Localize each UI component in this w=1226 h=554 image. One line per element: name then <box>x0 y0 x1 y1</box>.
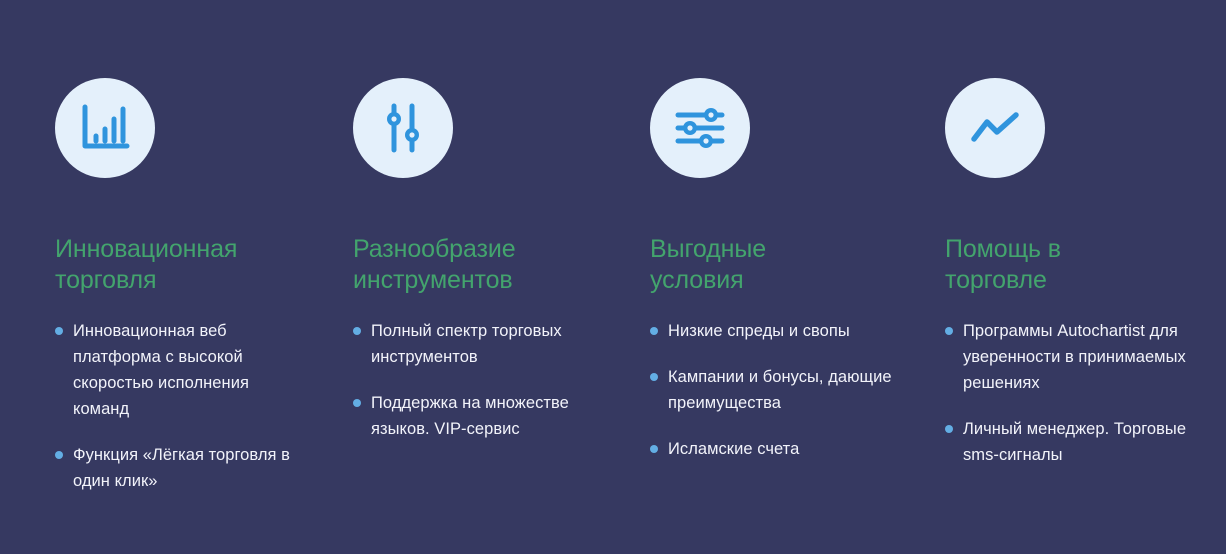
bullet-dot-icon <box>650 373 658 381</box>
list-item: Личный менеджер. Торговые sms-сигналы <box>945 416 1195 468</box>
bullet-dot-icon <box>650 327 658 335</box>
feature-column-favorable-conditions: Выгодные условия Низкие спреды и свопы К… <box>650 78 945 494</box>
list-item: Программы Autochartist для уверенности в… <box>945 318 1195 396</box>
features-grid: Инновационная торговля Инновационная веб… <box>55 78 1205 494</box>
trend-line-icon <box>945 78 1045 178</box>
list-item-text: Программы Autochartist для уверенности в… <box>963 322 1186 392</box>
bullet-dot-icon <box>55 327 63 335</box>
feature-bullet-list: Инновационная веб платформа с высокой ск… <box>55 318 353 494</box>
feature-bullet-list: Программы Autochartist для уверенности в… <box>945 318 1205 468</box>
list-item-text: Инновационная веб платформа с высокой ск… <box>73 322 249 418</box>
bullet-dot-icon <box>353 399 361 407</box>
feature-title: Инновационная торговля <box>55 234 300 296</box>
feature-bullet-list: Низкие спреды и свопы Кампании и бонусы,… <box>650 318 945 462</box>
feature-bullet-list: Полный спектр торговых инструментов Подд… <box>353 318 650 442</box>
feature-column-innovative-trading: Инновационная торговля Инновационная веб… <box>55 78 353 494</box>
feature-title: Помощь в торговле <box>945 234 1145 296</box>
list-item-text: Личный менеджер. Торговые sms-сигналы <box>963 420 1186 464</box>
list-item-text: Низкие спреды и свопы <box>668 322 850 340</box>
list-item: Низкие спреды и свопы <box>650 318 900 344</box>
list-item: Исламские счета <box>650 436 900 462</box>
list-item: Функция «Лёгкая торговля в один клик» <box>55 442 299 494</box>
list-item: Полный спектр торговых инструментов <box>353 318 603 370</box>
list-item-text: Кампании и бонусы, дающие преимущества <box>668 368 892 412</box>
bullet-dot-icon <box>55 451 63 459</box>
feature-title: Выгодные условия <box>650 234 895 296</box>
list-item-text: Исламские счета <box>668 440 799 458</box>
bullet-dot-icon <box>650 445 658 453</box>
feature-column-trading-support: Помощь в торговле Программы Autochartist… <box>945 78 1205 494</box>
list-item-text: Поддержка на множестве языков. VIP-серви… <box>371 394 569 438</box>
list-item: Кампании и бонусы, дающие преимущества <box>650 364 900 416</box>
bullet-dot-icon <box>353 327 361 335</box>
horizontal-sliders-icon <box>650 78 750 178</box>
features-section: Инновационная торговля Инновационная веб… <box>0 0 1226 554</box>
bullet-dot-icon <box>945 425 953 433</box>
list-item: Поддержка на множестве языков. VIP-серви… <box>353 390 603 442</box>
list-item: Инновационная веб платформа с высокой ск… <box>55 318 299 422</box>
feature-title: Разнообразие инструментов <box>353 234 598 296</box>
bullet-dot-icon <box>945 327 953 335</box>
bar-chart-icon <box>55 78 155 178</box>
list-item-text: Полный спектр торговых инструментов <box>371 322 562 366</box>
vertical-sliders-icon <box>353 78 453 178</box>
feature-column-instrument-variety: Разнообразие инструментов Полный спектр … <box>353 78 650 494</box>
list-item-text: Функция «Лёгкая торговля в один клик» <box>73 446 290 490</box>
